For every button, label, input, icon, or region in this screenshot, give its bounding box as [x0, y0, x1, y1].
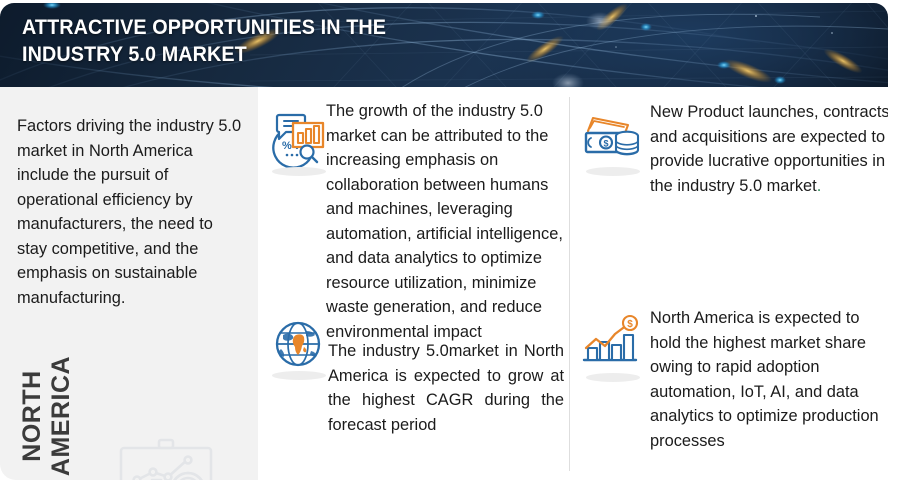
info-block-market-share: $ North America is expected to hold the … — [580, 313, 888, 453]
info-block-cagr-forecast: The industry 5.0market in North America … — [266, 311, 566, 437]
info-block-text-main: New Product launches, contracts and acqu… — [650, 103, 888, 195]
info-block-text-period: . — [817, 177, 822, 195]
content-area: Factors driving the industry 5.0 market … — [0, 87, 888, 480]
svg-text:$: $ — [627, 319, 633, 330]
svg-text:$: $ — [603, 139, 608, 149]
left-summary-panel: Factors driving the industry 5.0 market … — [0, 87, 258, 480]
bar-growth-dollar-icon: $ — [580, 313, 644, 377]
presentation-board-analytics-icon — [112, 437, 220, 480]
svg-text:%: % — [282, 140, 292, 152]
infographic-page: ATTRACTIVE OPPORTUNITIES IN THE INDUSTRY… — [0, 0, 900, 483]
info-block-new-product-launches: $ New Product launches, contracts and ac… — [580, 107, 888, 198]
icon-shadow — [586, 373, 640, 382]
money-cash-coins-icon: $ — [580, 107, 644, 171]
page-title: ATTRACTIVE OPPORTUNITIES IN THE INDUSTRY… — [22, 14, 408, 68]
info-block-text: New Product launches, contracts and acqu… — [650, 100, 888, 198]
intro-paragraph: Factors driving the industry 5.0 market … — [17, 114, 245, 310]
icon-shadow — [272, 167, 326, 176]
region-label: NORTH AMERICA — [18, 341, 76, 480]
pie-chart-analysis-icon: % — [266, 107, 330, 171]
info-block-text: North America is expected to hold the hi… — [650, 306, 888, 453]
column-divider — [569, 97, 570, 471]
info-block-text: The industry 5.0market in North America … — [328, 339, 564, 437]
icon-shadow — [586, 167, 640, 176]
info-block-text: The growth of the industry 5.0 market ca… — [326, 99, 566, 344]
icon-shadow — [272, 371, 326, 380]
info-block-growth-drivers: % The growth of — [266, 107, 566, 344]
header-banner: ATTRACTIVE OPPORTUNITIES IN THE INDUSTRY… — [0, 3, 888, 87]
globe-icon — [266, 311, 330, 375]
